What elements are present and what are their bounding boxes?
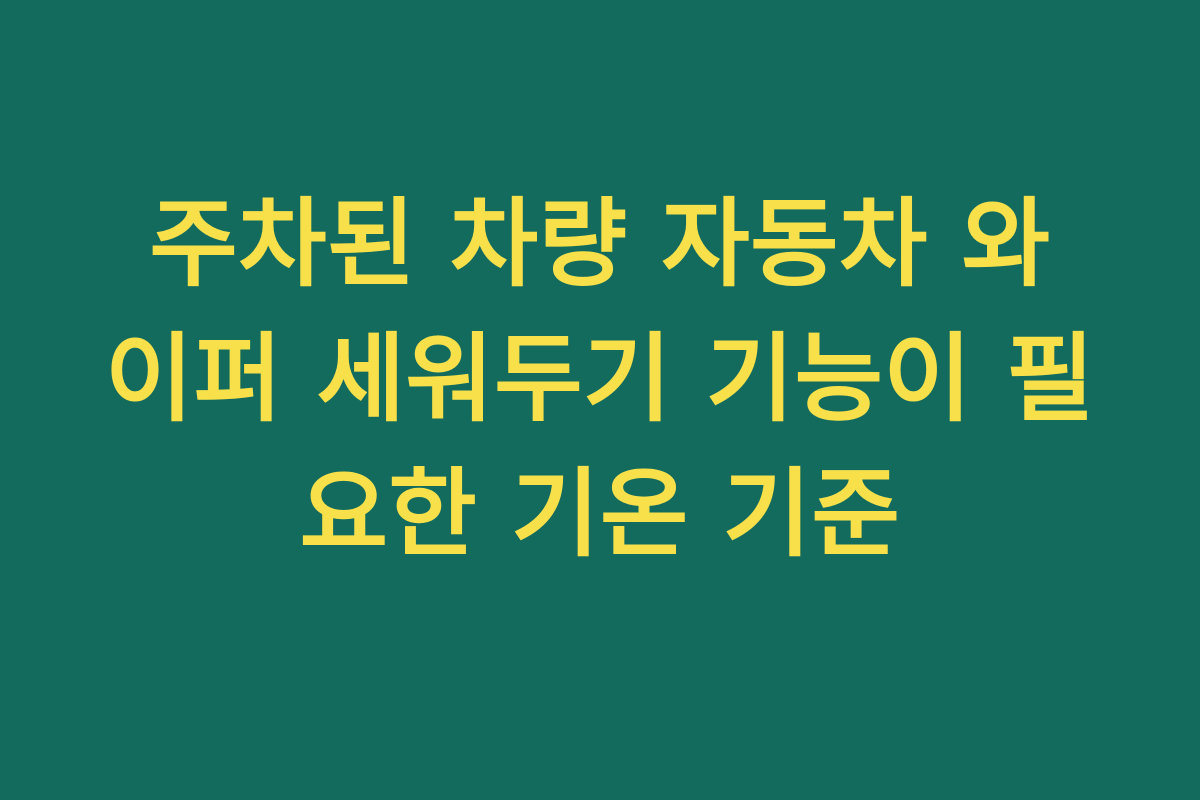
headline-block: 주차된 차량 자동차 와 이퍼 세워두기 기능이 필 요한 기온 기준 <box>70 177 1130 582</box>
headline-line-2: 이퍼 세워두기 기능이 필 <box>70 312 1130 447</box>
poster-canvas: 주차된 차량 자동차 와 이퍼 세워두기 기능이 필 요한 기온 기준 <box>0 0 1200 800</box>
headline-line-1: 주차된 차량 자동차 와 <box>70 177 1130 312</box>
headline-line-3: 요한 기온 기준 <box>70 447 1130 582</box>
